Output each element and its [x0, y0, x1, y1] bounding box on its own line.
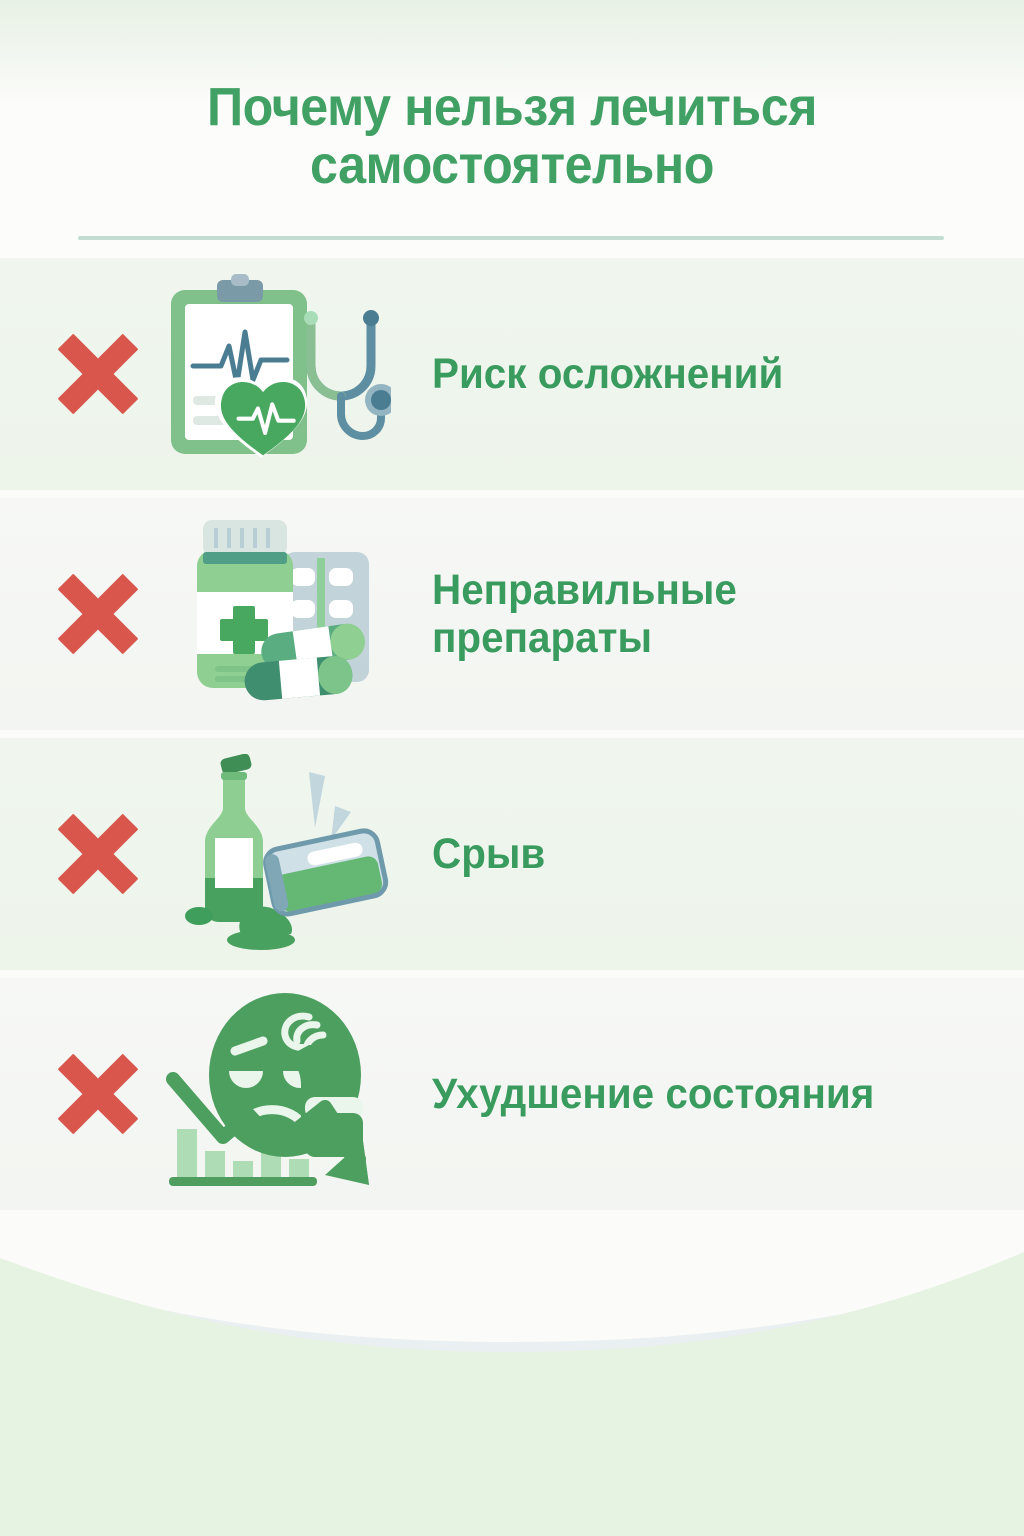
header-section: Почему нельзя лечиться самостоятельно	[0, 0, 1024, 258]
page-title: Почему нельзя лечиться самостоятельно	[36, 78, 988, 195]
red-x-mark-icon	[48, 804, 148, 904]
reason-label-4: Ухудшение состояния	[432, 1070, 874, 1118]
page-title-line-1: Почему нельзя лечиться	[207, 77, 817, 137]
pill-bottle-blister-capsules-icon	[156, 509, 394, 719]
reason-row-3: Срыв	[0, 738, 1024, 970]
sad-face-declining-chart-icon	[156, 989, 394, 1199]
reason-label-2: Неправильные препараты	[432, 566, 737, 662]
red-x-mark-icon	[48, 324, 148, 424]
header-divider	[78, 236, 944, 240]
wave-green	[0, 1252, 1024, 1536]
clipboard-heart-stethoscope-icon	[156, 269, 394, 479]
reason-row-2: Неправильные препараты	[0, 498, 1024, 730]
bottle-spilled-glass-icon	[156, 749, 394, 959]
red-x-mark-icon	[48, 564, 148, 664]
infographic-page: Почему нельзя лечиться самостоятельно	[0, 0, 1024, 1536]
red-x-mark-icon	[48, 1044, 148, 1144]
reason-row-4: Ухудшение состояния	[0, 978, 1024, 1210]
reason-row-1: Риск осложнений	[0, 258, 1024, 490]
reason-label-1: Риск осложнений	[432, 350, 783, 398]
bottom-decorative-waves	[0, 1196, 1024, 1536]
page-title-line-2: самостоятельно	[36, 136, 988, 194]
reason-label-3: Срыв	[432, 830, 545, 878]
